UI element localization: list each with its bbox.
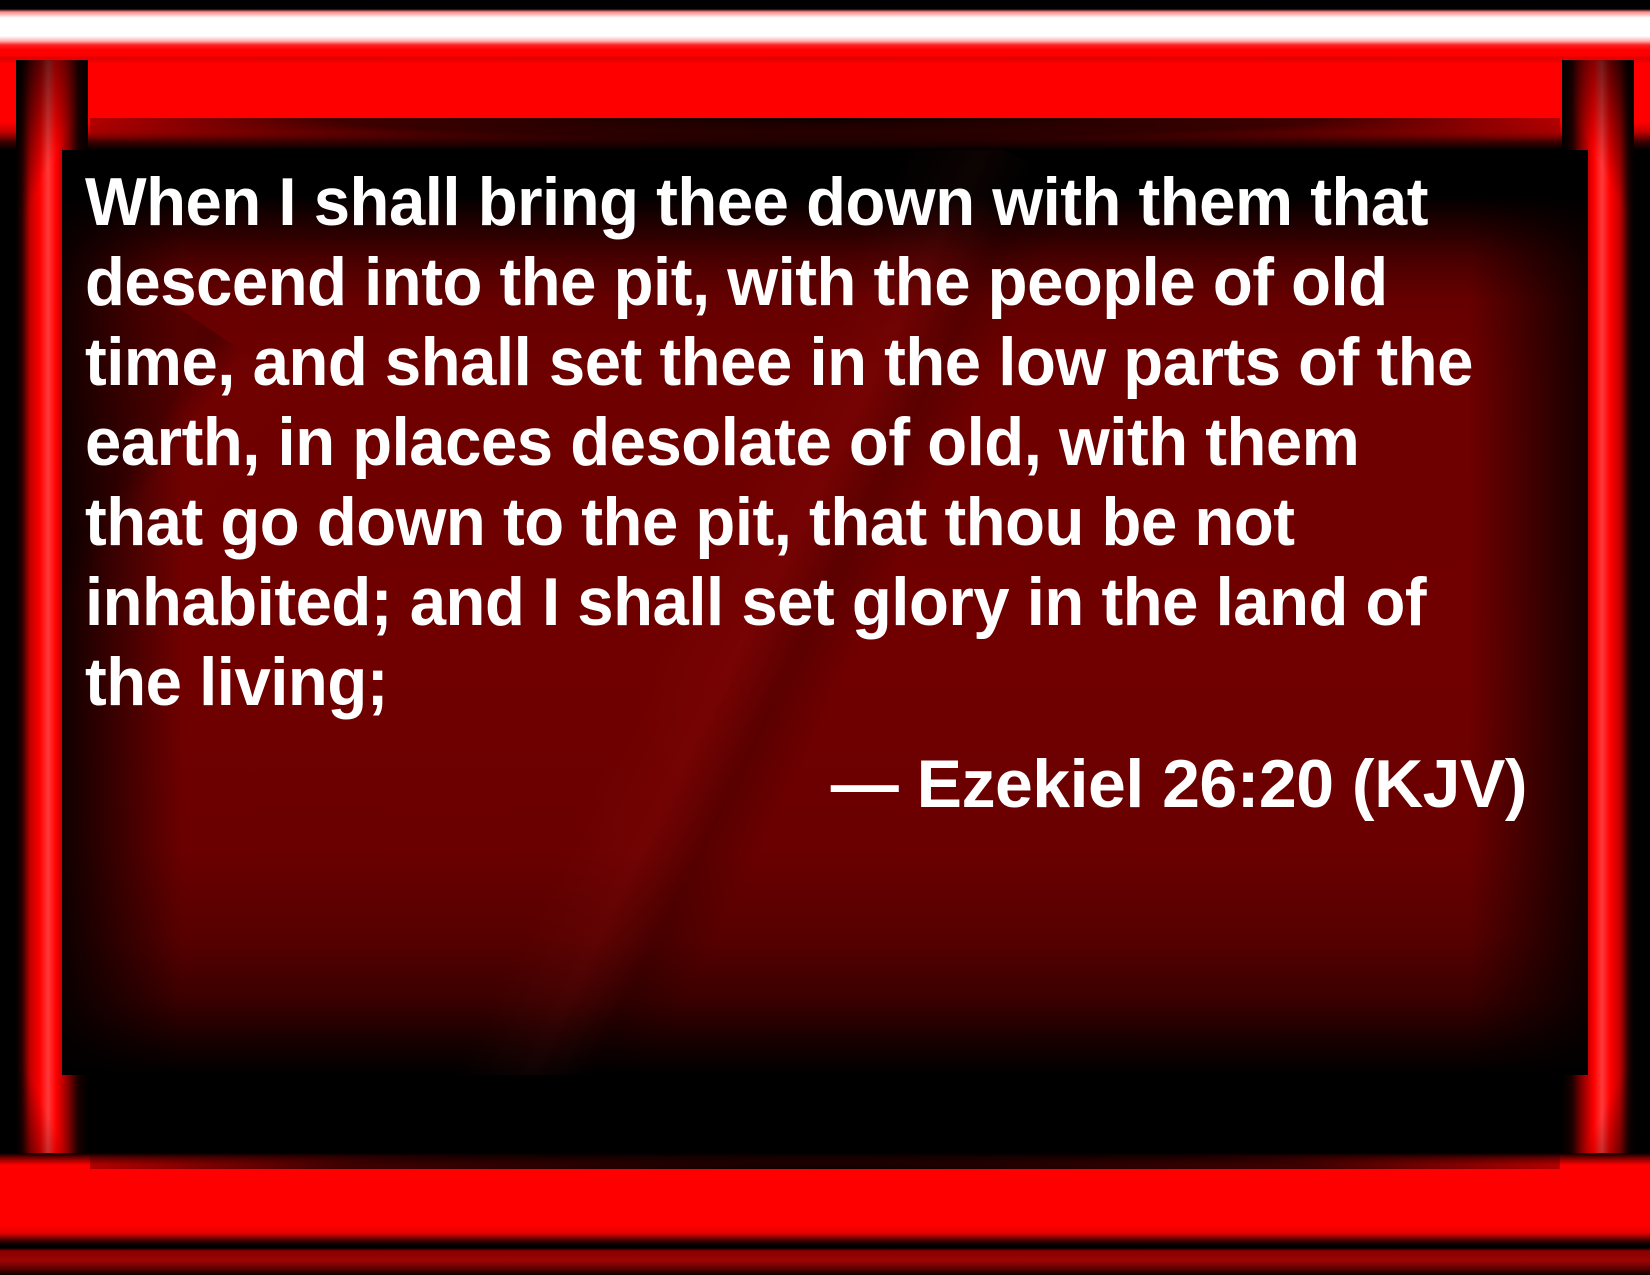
bottom-dark-red-strip — [0, 1245, 1650, 1275]
bottom-bezel — [0, 1125, 1650, 1275]
top-band-shadow — [90, 118, 1560, 150]
top-highlight-strip — [0, 0, 1650, 50]
bottom-band-shadow — [90, 1135, 1560, 1169]
verse-block: When I shall bring thee down with them t… — [85, 162, 1535, 824]
top-bezel — [0, 0, 1650, 150]
verse-image-canvas: When I shall bring thee down with them t… — [0, 0, 1650, 1275]
verse-text: When I shall bring thee down with them t… — [85, 162, 1477, 722]
verse-reference: — Ezekiel 26:20 (KJV) — [85, 744, 1535, 824]
verse-panel: When I shall bring thee down with them t… — [62, 150, 1588, 1075]
